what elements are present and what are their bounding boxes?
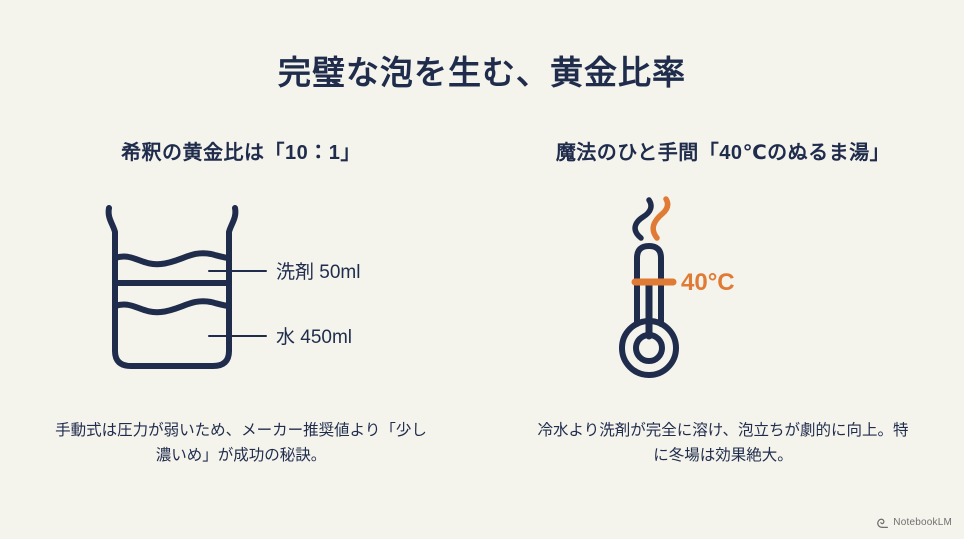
thermometer-figure: 40°C [573,196,873,396]
temperature-label: 40°C [681,269,735,296]
caption-dilution: 手動式は圧力が弱いため、メーカー推奨値より「少し濃いめ」が成功の秘訣。 [55,418,427,468]
beaker-figure: 洗剤 50ml 水 450ml [91,196,391,396]
caption-temperature: 冷水より洗剤が完全に溶け、泡立ちが劇的に向上。特に冬場は効果絶大。 [537,418,909,468]
columns-container: 希釈の黄金比は「10：1」 [0,140,964,468]
slide-root: 完璧な泡を生む、黄金比率 希釈の黄金比は「10：1」 [0,0,964,539]
watermark: NotebookLM [876,516,952,529]
detergent-label: 洗剤 50ml [276,261,360,283]
steam-icon [635,199,668,238]
beaker-icon: 洗剤 50ml 水 450ml [91,196,391,386]
notebooklm-spiral-icon [876,516,889,529]
thermometer-icon: 40°C [573,196,873,396]
column-dilution-ratio: 希釈の黄金比は「10：1」 [0,140,482,468]
column-heading-dilution: 希釈の黄金比は「10：1」 [121,140,361,170]
page-title: 完璧な泡を生む、黄金比率 [0,52,964,93]
water-label: 水 450ml [276,326,352,348]
column-heading-temperature: 魔法のひと手間「40℃のぬるま湯」 [556,140,890,170]
column-temperature: 魔法のひと手間「40℃のぬるま湯」 [482,140,964,468]
watermark-label: NotebookLM [893,517,952,528]
